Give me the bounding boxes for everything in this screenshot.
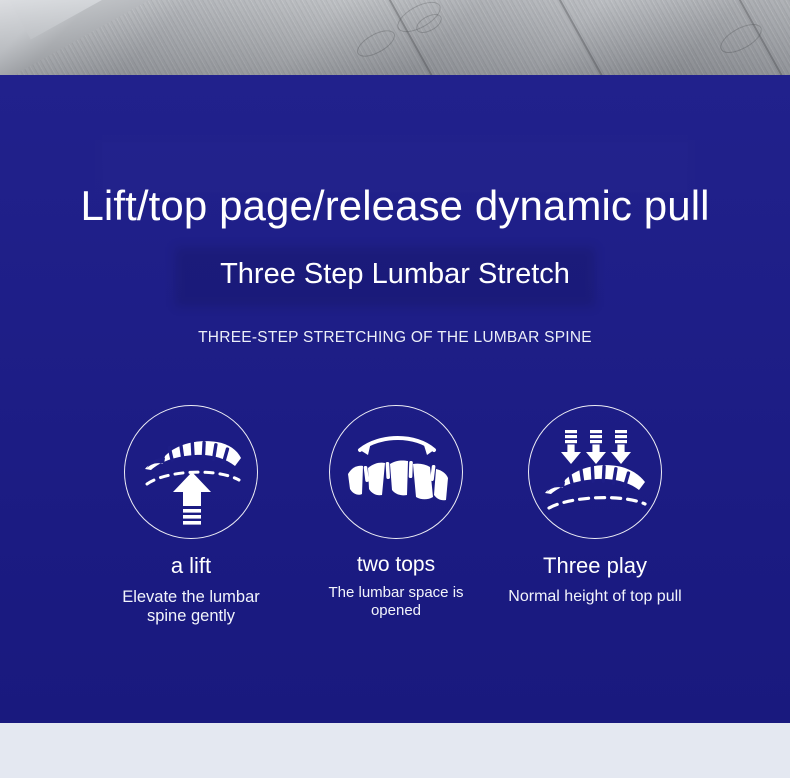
step-2-desc: The lumbar space is opened (306, 584, 486, 619)
step-1-title: a lift (101, 553, 281, 579)
step-3-circle (528, 405, 662, 539)
spine-arched-up-arrow-icon (125, 406, 259, 540)
spine-spread-double-arrow-icon (330, 406, 464, 540)
step-3-desc: Normal height of top pull (505, 588, 685, 607)
step-item-1: a lift Elevate the lumbar spine gently (101, 405, 281, 627)
spine-down-arrows-icon (529, 406, 663, 540)
step-item-2: two tops The lumbar space is opened (306, 405, 486, 619)
wood-floor-photo (0, 0, 790, 75)
product-banner: Lift/top page/release dynamic pull Three… (0, 0, 790, 778)
page-subheadline: Three Step Lumbar Stretch (0, 258, 790, 291)
blue-content-panel: Lift/top page/release dynamic pull Three… (0, 75, 790, 723)
step-1-circle (124, 405, 258, 539)
page-kicker: THREE-STEP STRETCHING OF THE LUMBAR SPIN… (0, 329, 790, 347)
step-2-circle (329, 405, 463, 539)
steps-row: a lift Elevate the lumbar spine gently (0, 405, 790, 705)
page-headline: Lift/top page/release dynamic pull (0, 182, 790, 230)
step-3-title: Three play (505, 553, 685, 579)
photo-shading (0, 0, 790, 75)
step-2-title: two tops (306, 553, 486, 577)
step-item-3: Three play Normal height of top pull (505, 405, 685, 607)
step-1-desc: Elevate the lumbar spine gently (101, 588, 281, 627)
footer-band (0, 723, 790, 778)
